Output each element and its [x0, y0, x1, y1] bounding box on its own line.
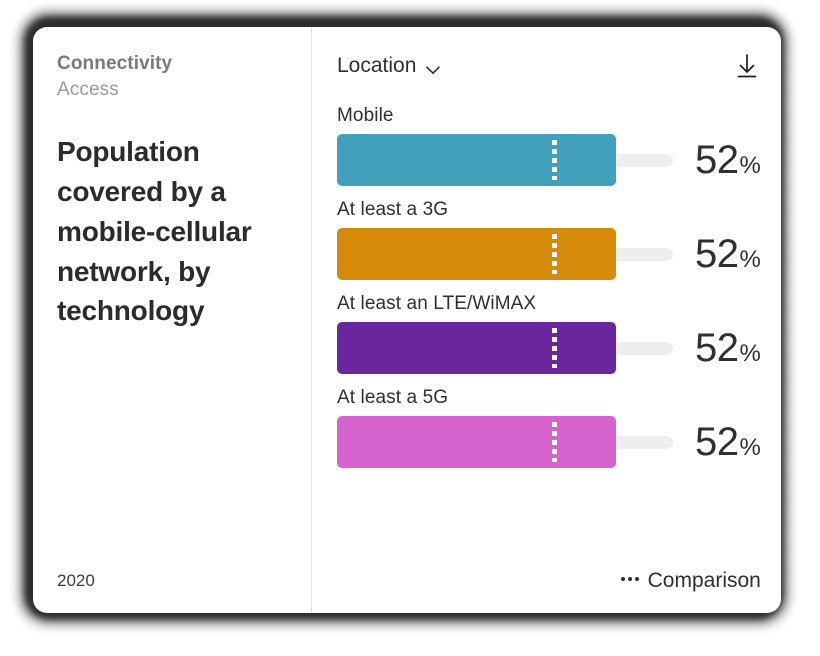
comparison-label: Comparison [648, 569, 761, 593]
bar-area[interactable] [337, 416, 673, 468]
bar-row: At least a 5G 52 % [337, 387, 761, 468]
location-dropdown[interactable]: Location [337, 54, 440, 78]
bar-fill [337, 416, 616, 468]
bar-value-number: 52 [695, 326, 739, 371]
comparison-marker [552, 422, 557, 462]
comparison-button[interactable]: Comparison [621, 569, 761, 593]
bar-value-number: 52 [695, 138, 739, 183]
bar-line: 52 % [337, 322, 761, 374]
bar-fill [337, 228, 616, 280]
bar-value: 52 % [695, 138, 761, 183]
comparison-marker [552, 234, 557, 274]
card-right-panel: Location [311, 27, 781, 613]
bar-label: Mobile [337, 105, 761, 127]
year-label: 2020 [57, 571, 95, 591]
bar-area[interactable] [337, 322, 673, 374]
bar-area[interactable] [337, 134, 673, 186]
bar-value-unit: % [740, 340, 761, 368]
bar-value-unit: % [740, 434, 761, 462]
bar-value: 52 % [695, 326, 761, 371]
bar-chart: Mobile 52 % At [337, 105, 761, 468]
bar-value-number: 52 [695, 420, 739, 465]
location-dropdown-label: Location [337, 54, 416, 78]
bar-area[interactable] [337, 228, 673, 280]
bar-label: At least a 5G [337, 387, 761, 409]
bar-value-unit: % [740, 246, 761, 274]
page-title: Population covered by a mobile-cellular … [57, 132, 289, 331]
bar-row: At least a 3G 52 % [337, 199, 761, 280]
comparison-marker [552, 328, 557, 368]
bar-value: 52 % [695, 420, 761, 465]
bar-row: At least an LTE/WiMAX 52 % [337, 293, 761, 374]
bar-line: 52 % [337, 416, 761, 468]
bar-fill [337, 134, 616, 186]
bar-value: 52 % [695, 232, 761, 277]
bar-row: Mobile 52 % [337, 105, 761, 186]
subcategory-label: Access [57, 77, 311, 103]
indicator-card: Connectivity Access Population covered b… [33, 27, 781, 613]
bar-line: 52 % [337, 134, 761, 186]
card-left-panel: Connectivity Access Population covered b… [33, 27, 311, 613]
bar-value-unit: % [740, 152, 761, 180]
screenshot-stage: Connectivity Access Population covered b… [0, 0, 820, 656]
bar-label: At least a 3G [337, 199, 761, 221]
bar-value-number: 52 [695, 232, 739, 277]
chevron-down-icon [426, 62, 440, 71]
category-label: Connectivity [57, 51, 311, 77]
download-icon[interactable] [733, 52, 761, 80]
bar-line: 52 % [337, 228, 761, 280]
ellipsis-icon [621, 577, 639, 581]
chart-header: Location [337, 49, 761, 83]
bar-label: At least an LTE/WiMAX [337, 293, 761, 315]
bar-fill [337, 322, 616, 374]
comparison-marker [552, 140, 557, 180]
